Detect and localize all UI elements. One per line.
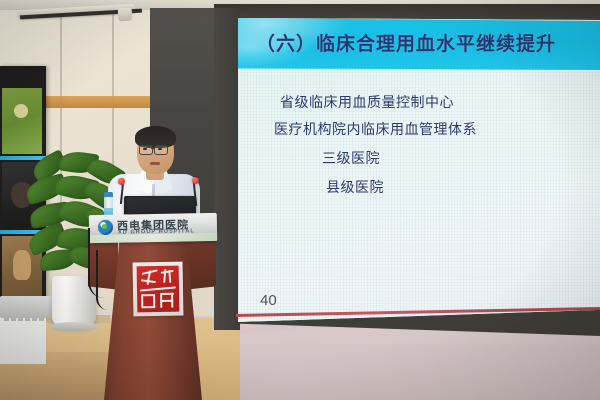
- slide-body-line-1: 省级临床用血质量控制中心: [280, 92, 454, 112]
- eye: [158, 148, 162, 150]
- emblem-stroke: [163, 269, 166, 283]
- glasses-icon: [154, 145, 168, 155]
- slide-body-line-3: 三级医院: [322, 148, 380, 168]
- projected-slide: （六）临床合理用血水平继续提升 省级临床用血质量控制中心 医疗机构院内临床用血管…: [238, 18, 600, 322]
- presentation-photo-scene: （六）临床合理用血水平继续提升 省级临床用血质量控制中心 医疗机构院内临床用血管…: [0, 0, 600, 400]
- glasses-bridge: [151, 148, 155, 149]
- water-bottle-cap: [104, 192, 113, 197]
- slide-title: （六）临床合理用血水平继续提升: [256, 29, 556, 56]
- podium-emblem-plaque: [133, 262, 184, 317]
- microphone-head-left: [118, 178, 125, 185]
- emblem-stroke: [160, 300, 173, 302]
- cable: [96, 250, 108, 310]
- emblem-stroke: [140, 286, 176, 292]
- emblem-stroke: [141, 306, 155, 308]
- slide-page-number: 40: [260, 292, 277, 309]
- sun-icon: [14, 104, 28, 118]
- projector-roller-cap: [118, 8, 133, 22]
- eye: [143, 148, 147, 150]
- emblem-stroke: [161, 270, 174, 274]
- slide-body-line-4: 县级医院: [326, 177, 384, 197]
- microphone-head-right: [192, 177, 199, 184]
- rollup-banner-base: [0, 296, 52, 318]
- mouth: [150, 162, 160, 165]
- red-seal-emblem-icon: [137, 266, 180, 313]
- screen-left-bezel: [214, 8, 240, 330]
- glasses-icon: [139, 145, 153, 155]
- slide-body-line-2: 医疗机构院内临床用血管理体系: [274, 119, 477, 139]
- rollup-photo-field: [2, 88, 42, 154]
